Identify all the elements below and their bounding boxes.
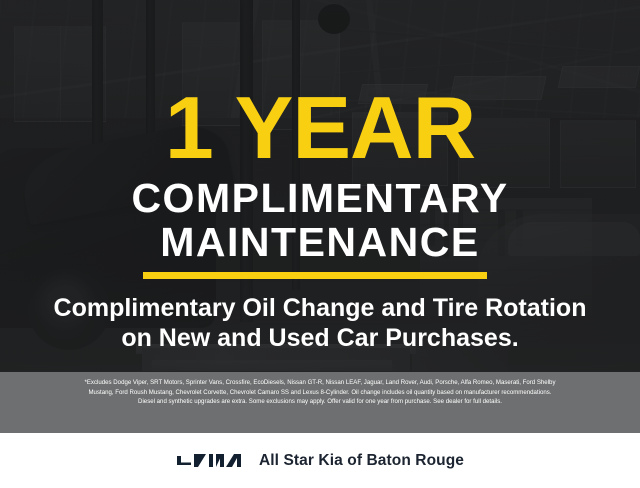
promotional-banner: 1 YEAR COMPLIMENTARY MAINTENANCE Complim… (0, 0, 640, 488)
disclaimer-line-1: *Excludes Dodge Viper, SRT Motors, Sprin… (12, 378, 628, 388)
accent-divider-bar (143, 272, 487, 279)
headline-year: 1 YEAR (0, 84, 640, 172)
offer-line-1: Complimentary Oil Change and Tire Rotati… (0, 293, 640, 323)
disclaimer-line-3: Diesel and synthetic upgrades are extra.… (12, 397, 628, 407)
offer-line-2: on New and Used Car Purchases. (0, 323, 640, 353)
banner-footer: All Star Kia of Baton Rouge (0, 433, 640, 488)
kia-logo-icon (176, 452, 242, 469)
dealer-name: All Star Kia of Baton Rouge (259, 452, 464, 470)
disclaimer-line-2: Mustang, Ford Roush Mustang, Chevrolet C… (12, 388, 628, 398)
banner-copy: 1 YEAR COMPLIMENTARY MAINTENANCE Complim… (0, 0, 640, 433)
headline-maintenance: MAINTENANCE (0, 222, 640, 263)
disclaimer-text: *Excludes Dodge Viper, SRT Motors, Sprin… (0, 372, 640, 433)
headline-complimentary: COMPLIMENTARY (0, 178, 640, 219)
